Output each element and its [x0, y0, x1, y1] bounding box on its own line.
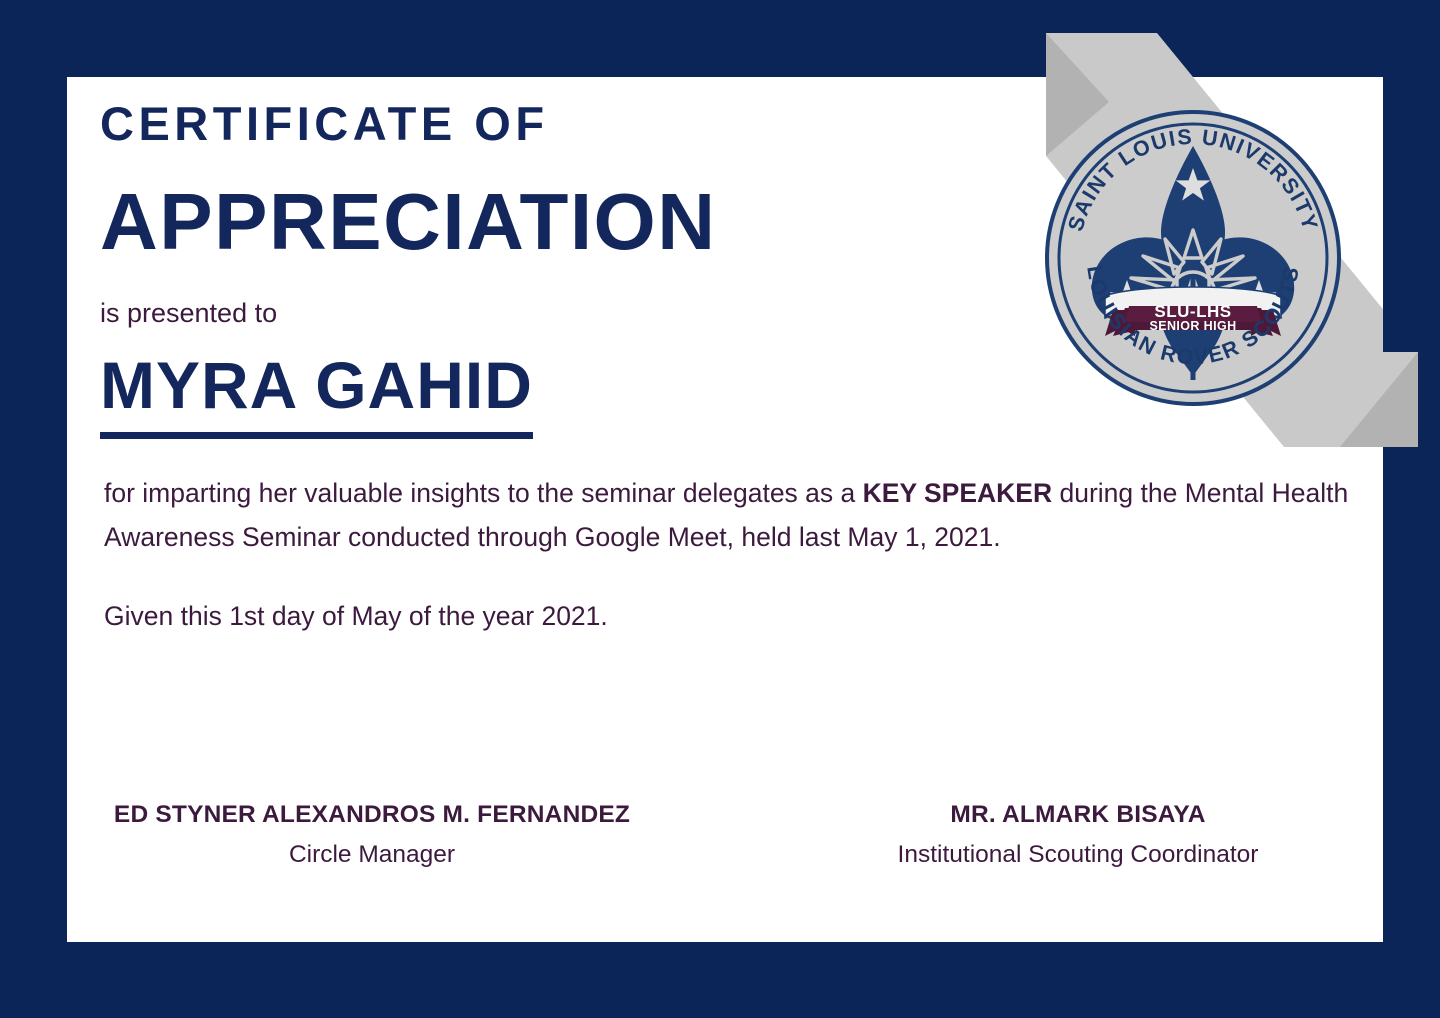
- signature-left-name: ED STYNER ALEXANDROS M. FERNANDEZ: [67, 800, 677, 831]
- certificate-body: for imparting her valuable insights to t…: [104, 472, 1352, 639]
- signature-left-title: Circle Manager: [67, 840, 677, 871]
- recipient-name: MYRA GAHID: [100, 352, 533, 439]
- signature-right-title: Institutional Scouting Coordinator: [773, 840, 1383, 871]
- body-paragraph-1: for imparting her valuable insights to t…: [104, 472, 1352, 559]
- certificate-document: SLU-LHS SENIOR HIGH SAINT LOUIS UNIVERSI…: [0, 0, 1440, 1018]
- body-paragraph-2: Given this 1st day of May of the year 20…: [104, 595, 1352, 639]
- signature-block: ED STYNER ALEXANDROS M. FERNANDEZ Circle…: [67, 800, 1383, 870]
- signature-right-name: MR. ALMARK BISAYA: [773, 800, 1383, 831]
- body-paragraph-1-emphasis: KEY SPEAKER: [863, 478, 1053, 508]
- presented-to-label: is presented to: [100, 297, 277, 329]
- certificate-title: APPRECIATION: [100, 182, 717, 262]
- signature-left: ED STYNER ALEXANDROS M. FERNANDEZ Circle…: [67, 800, 743, 870]
- certificate-eyebrow: CERTIFICATE OF: [100, 100, 549, 147]
- body-paragraph-1-before: for imparting her valuable insights to t…: [104, 478, 863, 508]
- signature-right: MR. ALMARK BISAYA Institutional Scouting…: [743, 800, 1383, 870]
